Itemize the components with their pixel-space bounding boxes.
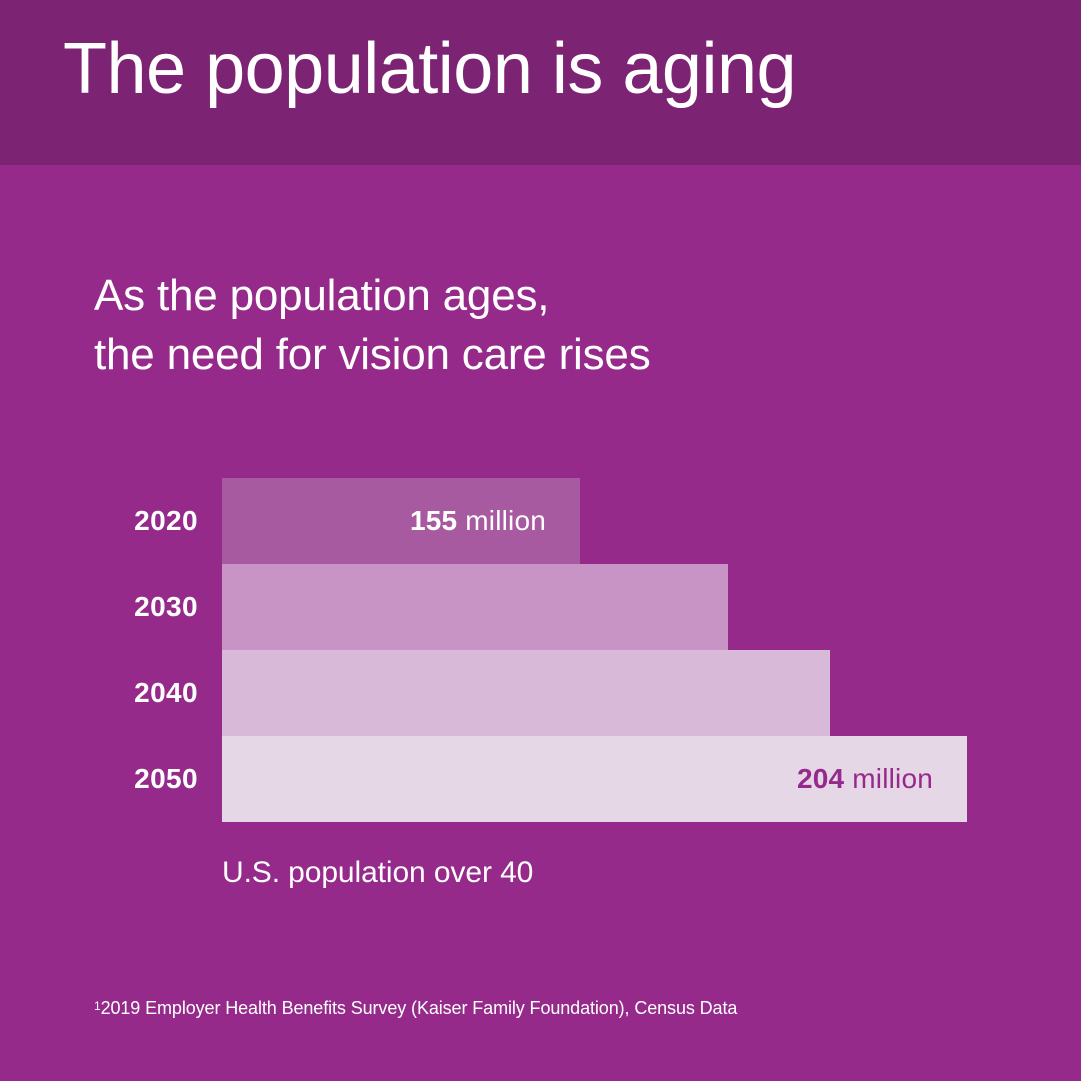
footnote: 12019 Employer Health Benefits Survey (K…: [94, 998, 737, 1019]
bar-row: 2020155 million: [0, 478, 1081, 564]
bar-category-label: 2050: [106, 736, 198, 822]
bar-track: [222, 650, 830, 736]
bar-fill: [222, 564, 728, 650]
footnote-text: 2019 Employer Health Benefits Survey (Ka…: [101, 998, 738, 1018]
header-band: The population is aging: [0, 0, 1081, 165]
bar-track: 204 million: [222, 736, 967, 822]
bar-value-label: 204 million: [797, 763, 967, 795]
bar-category-label: 2040: [106, 650, 198, 736]
bar-row: 2030: [0, 564, 1081, 650]
bar-category-label: 2030: [106, 564, 198, 650]
bar-value-label: 155 million: [410, 505, 580, 537]
bar-row: 2050204 million: [0, 736, 1081, 822]
subtitle-line-1: As the population ages,: [94, 266, 651, 325]
chart-caption: U.S. population over 40: [222, 856, 533, 890]
bar-value-unit: million: [844, 763, 933, 794]
page-title: The population is aging: [63, 33, 796, 105]
bar-track: [222, 564, 728, 650]
subtitle: As the population ages, the need for vis…: [94, 266, 651, 384]
bar-fill: [222, 650, 830, 736]
footnote-marker: 1: [94, 999, 101, 1013]
bar-value-number: 155: [410, 505, 457, 536]
bar-track: 155 million: [222, 478, 580, 564]
bar-category-label: 2020: [106, 478, 198, 564]
bar-value-number: 204: [797, 763, 844, 794]
bar-fill: 155 million: [222, 478, 580, 564]
bar-value-unit: million: [457, 505, 546, 536]
bar-row: 2040: [0, 650, 1081, 736]
bar-chart: 2020155 million203020402050204 million: [0, 478, 1081, 822]
bar-fill: 204 million: [222, 736, 967, 822]
subtitle-line-2: the need for vision care rises: [94, 325, 651, 384]
infographic-canvas: The population is aging As the populatio…: [0, 0, 1081, 1081]
